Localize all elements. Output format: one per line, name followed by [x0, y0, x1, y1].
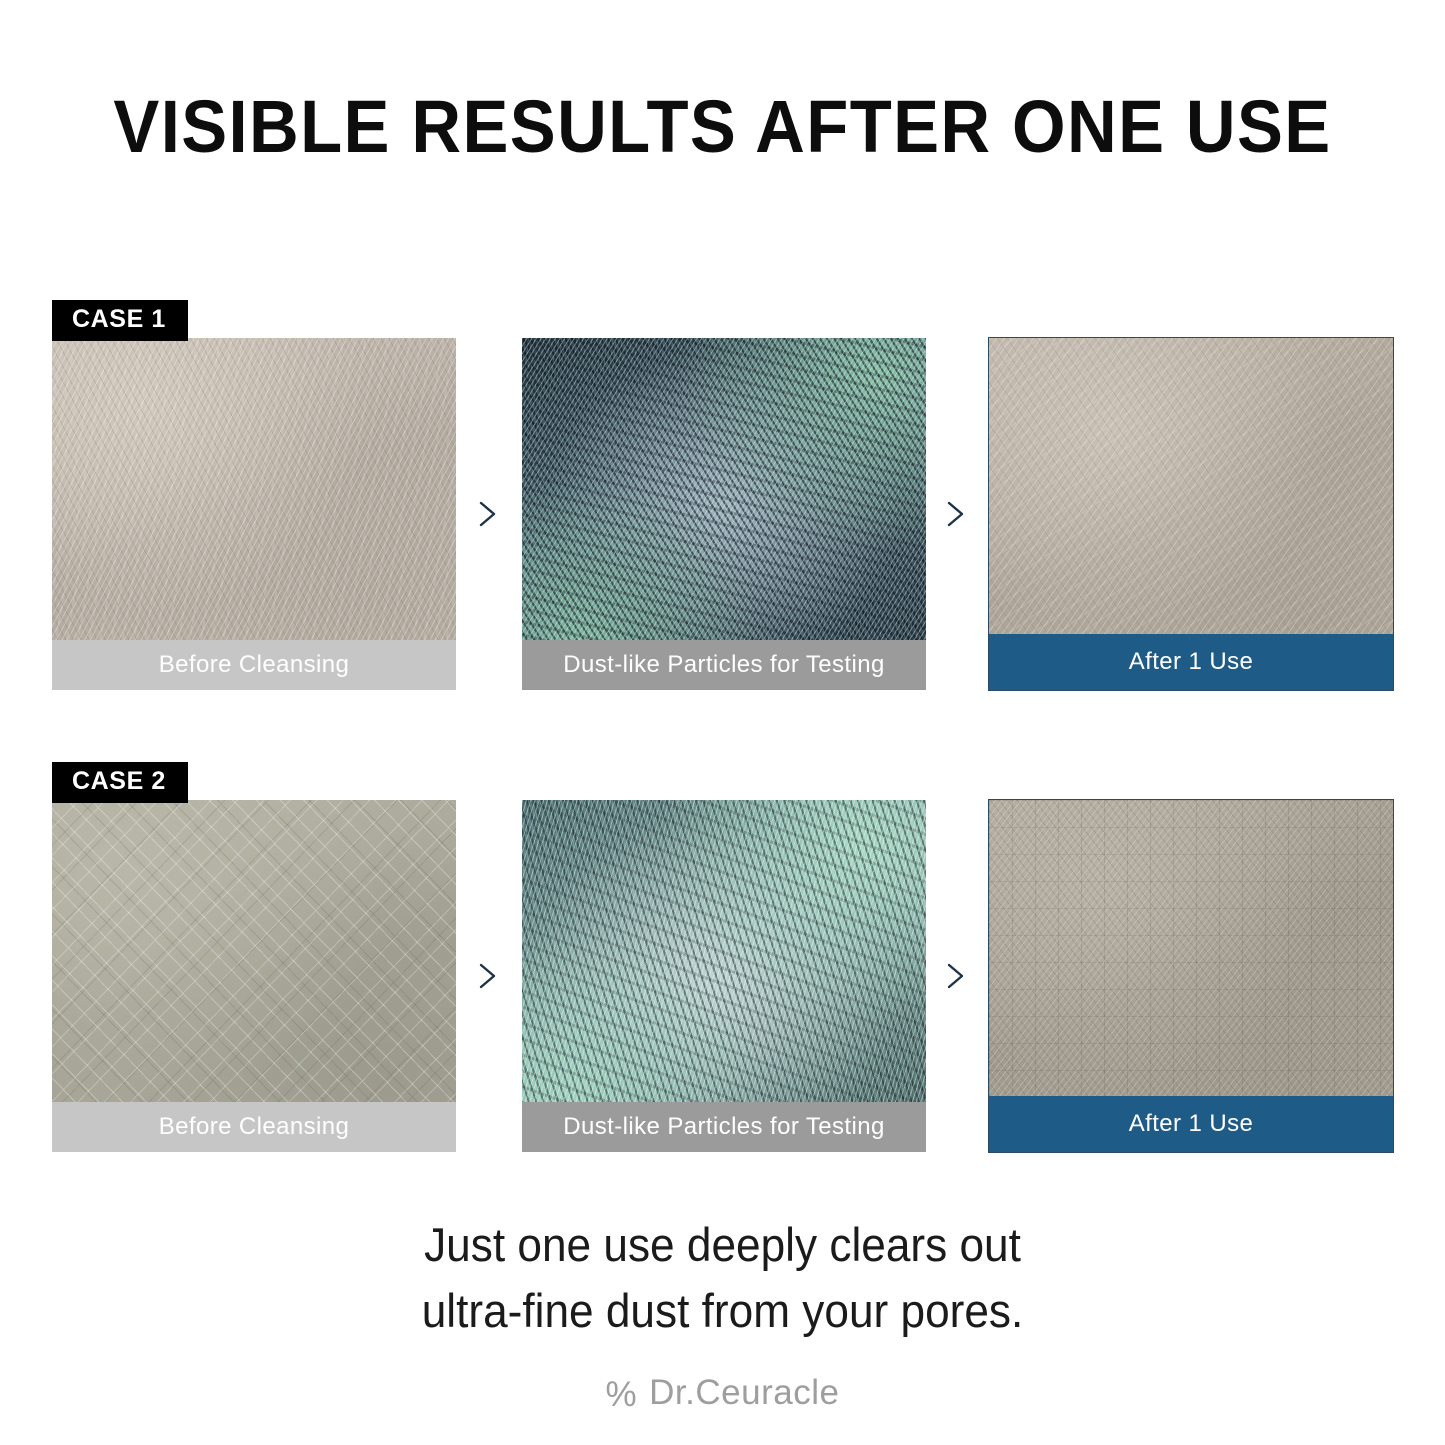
brand-percent-droplet-icon: % — [606, 1377, 638, 1412]
skin-texture-before-case1 — [52, 338, 456, 690]
tagline: Just one use deeply clears out ultra-fin… — [43, 1212, 1401, 1344]
dust-texture-case1 — [522, 338, 926, 690]
chevron-right-icon — [938, 497, 972, 531]
case-1-panels: Before Cleansing Dust-like Particles for… — [0, 338, 1445, 690]
case-2-panel-dust: Dust-like Particles for Testing — [522, 800, 926, 1152]
page-title: VISIBLE RESULTS AFTER ONE USE — [51, 84, 1395, 169]
case-1-panel-before: Before Cleansing — [52, 338, 456, 690]
caption-dust-case2: Dust-like Particles for Testing — [522, 1102, 926, 1152]
skin-texture-before-case2 — [52, 800, 456, 1152]
case-1-panel-dust: Dust-like Particles for Testing — [522, 338, 926, 690]
caption-after-case2: After 1 Use — [989, 1096, 1393, 1152]
caption-dust-case1: Dust-like Particles for Testing — [522, 640, 926, 690]
brand-name: Dr.Ceuracle — [649, 1373, 839, 1412]
case-badge-1: CASE 1 — [52, 300, 188, 341]
caption-before-case2: Before Cleansing — [52, 1102, 456, 1152]
case-badge-2: CASE 2 — [52, 762, 188, 803]
case-2-panel-after: After 1 Use — [989, 800, 1393, 1152]
tagline-line-1: Just one use deeply clears out — [43, 1212, 1401, 1278]
case-2-panels: Before Cleansing Dust-like Particles for… — [0, 800, 1445, 1152]
brand-logo: %Dr.Ceuracle — [0, 1375, 1445, 1412]
dust-texture-case2 — [522, 800, 926, 1152]
case-1-panel-after: After 1 Use — [989, 338, 1393, 690]
infographic-page: VISIBLE RESULTS AFTER ONE USE CASE 1 Bef… — [0, 0, 1445, 1445]
case-2-panel-before: Before Cleansing — [52, 800, 456, 1152]
caption-before-case1: Before Cleansing — [52, 640, 456, 690]
chevron-right-icon — [470, 497, 504, 531]
tagline-line-2: ultra-fine dust from your pores. — [43, 1278, 1401, 1344]
chevron-right-icon — [938, 959, 972, 993]
caption-after-case1: After 1 Use — [989, 634, 1393, 690]
chevron-right-icon — [470, 959, 504, 993]
